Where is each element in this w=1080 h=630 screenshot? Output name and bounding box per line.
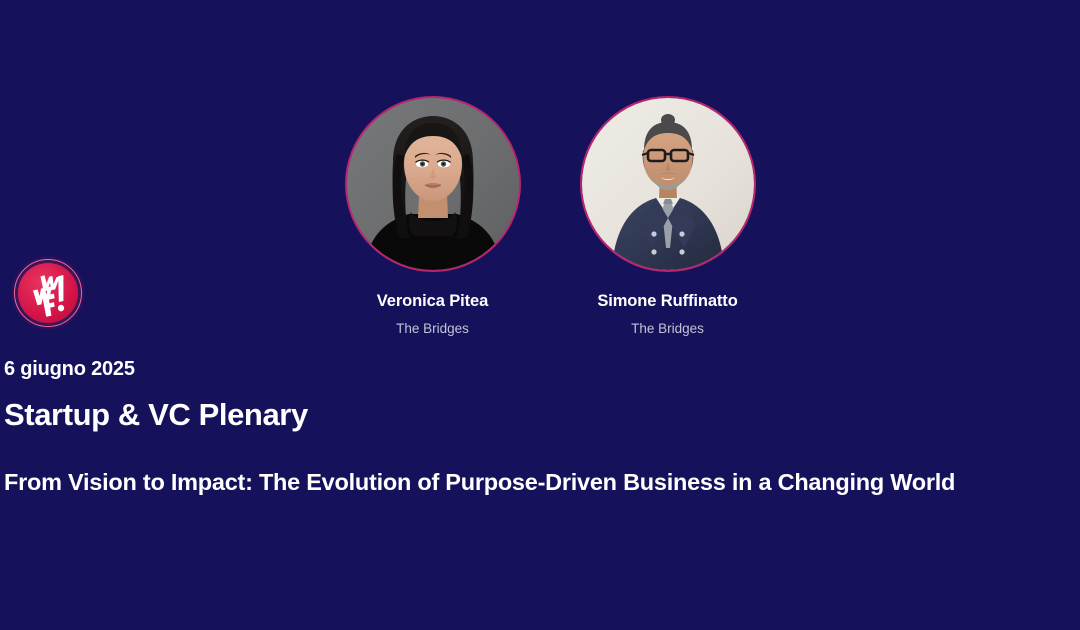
speaker-photo-veronica-pitea[interactable] [345,96,521,272]
speaker-name: Veronica Pitea [377,292,488,311]
avatar-image [347,98,519,270]
event-subtitle: From Vision to Impact: The Evolution of … [4,458,1080,507]
speaker-card[interactable]: Simone Ruffinatto The Bridges [575,96,760,336]
event-date: 6 giugno 2025 [4,358,1080,380]
speaker-organization: The Bridges [631,321,704,336]
avatar-image [582,98,754,270]
event-info: 6 giugno 2025 Startup & VC Plenary From … [4,358,1080,507]
speaker-card[interactable]: Veronica Pitea The Bridges [340,96,525,336]
speaker-name: Simone Ruffinatto [597,292,737,311]
speakers-list: Veronica Pitea The Bridges [340,96,760,336]
wmf-lettermark-icon [18,263,78,323]
speaker-photo-simone-ruffinatto[interactable] [580,96,756,272]
event-card: Veronica Pitea The Bridges [0,0,1080,630]
speaker-organization: The Bridges [396,321,469,336]
wmf-logo[interactable] [11,256,85,330]
logo-disc [18,263,78,323]
event-title: Startup & VC Plenary [4,398,1080,433]
